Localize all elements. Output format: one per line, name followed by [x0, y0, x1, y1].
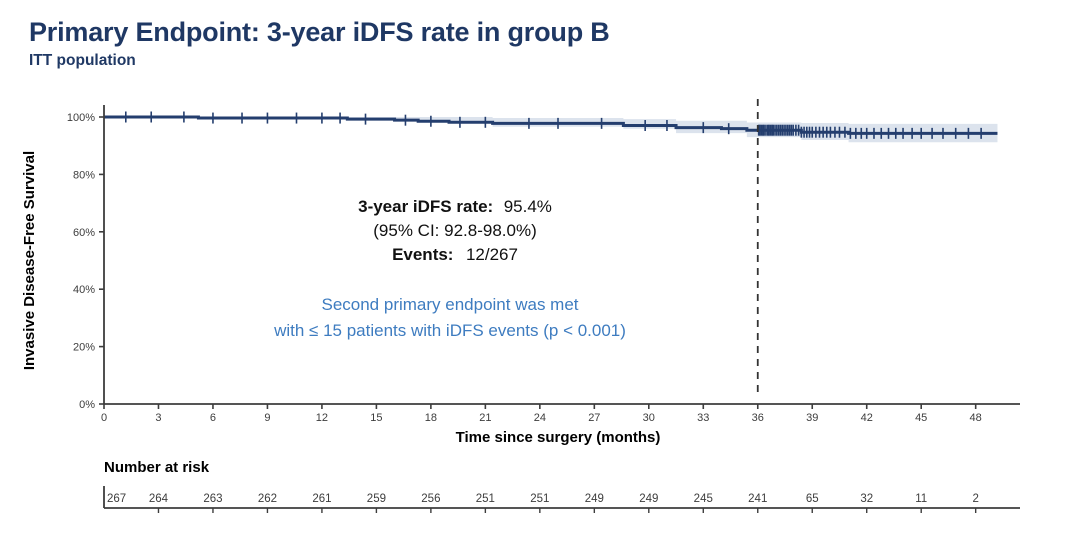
page-title: Primary Endpoint: 3-year iDFS rate in gr… — [29, 18, 1049, 48]
confidence-interval-band — [104, 117, 997, 143]
x-tick-label: 0 — [101, 412, 107, 424]
x-tick-label: 42 — [861, 412, 873, 424]
stat-events-value: 12/267 — [466, 245, 518, 264]
risk-value-cell: 249 — [639, 493, 658, 505]
stat-events-label: Events: — [392, 245, 453, 264]
risk-values: 2672642632622612592562512512492492452416… — [107, 493, 979, 505]
y-tick-label: 60% — [73, 227, 95, 239]
risk-value-cell: 251 — [476, 493, 495, 505]
y-axis-title: Invasive Disease-Free Survival — [21, 151, 38, 370]
x-tick-label: 33 — [697, 412, 709, 424]
risk-value-cell: 245 — [694, 493, 713, 505]
x-tick-label: 12 — [316, 412, 328, 424]
page-subtitle: ITT population — [29, 52, 1049, 69]
risk-value-cell: 32 — [860, 493, 873, 505]
number-at-risk-title: Number at risk — [104, 459, 210, 476]
y-tick-label: 20% — [73, 342, 95, 354]
y-tick-label: 40% — [73, 284, 95, 296]
number-at-risk-table: Number at risk 2672642632622612592562512… — [104, 459, 1020, 513]
stat-rate-value: 95.4% — [504, 197, 552, 216]
stat-rate-label: 3-year iDFS rate: — [358, 197, 493, 216]
x-tick-label: 9 — [264, 412, 270, 424]
x-tick-label: 39 — [806, 412, 818, 424]
y-tick-label: 80% — [73, 169, 95, 181]
endpoint-note: Second primary endpoint was met with ≤ 1… — [273, 295, 626, 340]
risk-value-cell: 2 — [972, 493, 978, 505]
stat-rate-line: 3-year iDFS rate: 95.4% — [358, 197, 552, 216]
slide-header: Primary Endpoint: 3-year iDFS rate in gr… — [29, 18, 1049, 69]
note-line-2: with ≤ 15 patients with iDFS events (p <… — [273, 321, 626, 340]
stat-events-line: Events: 12/267 — [392, 245, 518, 264]
x-tick-label: 27 — [588, 412, 600, 424]
kaplan-meier-figure: 0%20%40%60%80%100% 036912151821242730333… — [0, 88, 1080, 547]
stat-ci-line: (95% CI: 92.8-98.0%) — [373, 221, 536, 240]
risk-value-cell: 256 — [421, 493, 440, 505]
km-plot-svg: 0%20%40%60%80%100% 036912151821242730333… — [0, 88, 1080, 547]
x-tick-label: 24 — [534, 412, 546, 424]
x-tick-label: 3 — [155, 412, 161, 424]
risk-value-cell: 65 — [806, 493, 819, 505]
x-axis-ticks: 036912151821242730333639424548 — [101, 404, 982, 424]
risk-value-cell: 267 — [107, 493, 126, 505]
x-tick-label: 30 — [643, 412, 655, 424]
x-tick-label: 48 — [970, 412, 982, 424]
risk-value-cell: 264 — [149, 493, 169, 505]
x-axis-title: Time since surgery (months) — [456, 429, 661, 446]
risk-value-cell: 261 — [312, 493, 331, 505]
x-tick-label: 21 — [479, 412, 491, 424]
y-axis-ticks: 0%20%40%60%80%100% — [67, 112, 104, 411]
risk-value-cell: 249 — [585, 493, 604, 505]
x-tick-label: 36 — [752, 412, 764, 424]
plot-axes — [104, 105, 1020, 404]
y-tick-label: 100% — [67, 112, 95, 124]
stats-annotation: 3-year iDFS rate: 95.4% (95% CI: 92.8-98… — [358, 197, 552, 264]
risk-value-cell: 263 — [203, 493, 222, 505]
y-tick-label: 0% — [79, 399, 95, 411]
risk-value-cell: 11 — [915, 493, 927, 505]
x-tick-label: 45 — [915, 412, 927, 424]
risk-value-cell: 251 — [530, 493, 549, 505]
note-line-1: Second primary endpoint was met — [321, 295, 578, 314]
risk-value-cell: 241 — [748, 493, 767, 505]
risk-value-cell: 259 — [367, 493, 386, 505]
x-tick-label: 15 — [370, 412, 382, 424]
risk-value-cell: 262 — [258, 493, 277, 505]
x-tick-label: 6 — [210, 412, 216, 424]
x-tick-label: 18 — [425, 412, 437, 424]
